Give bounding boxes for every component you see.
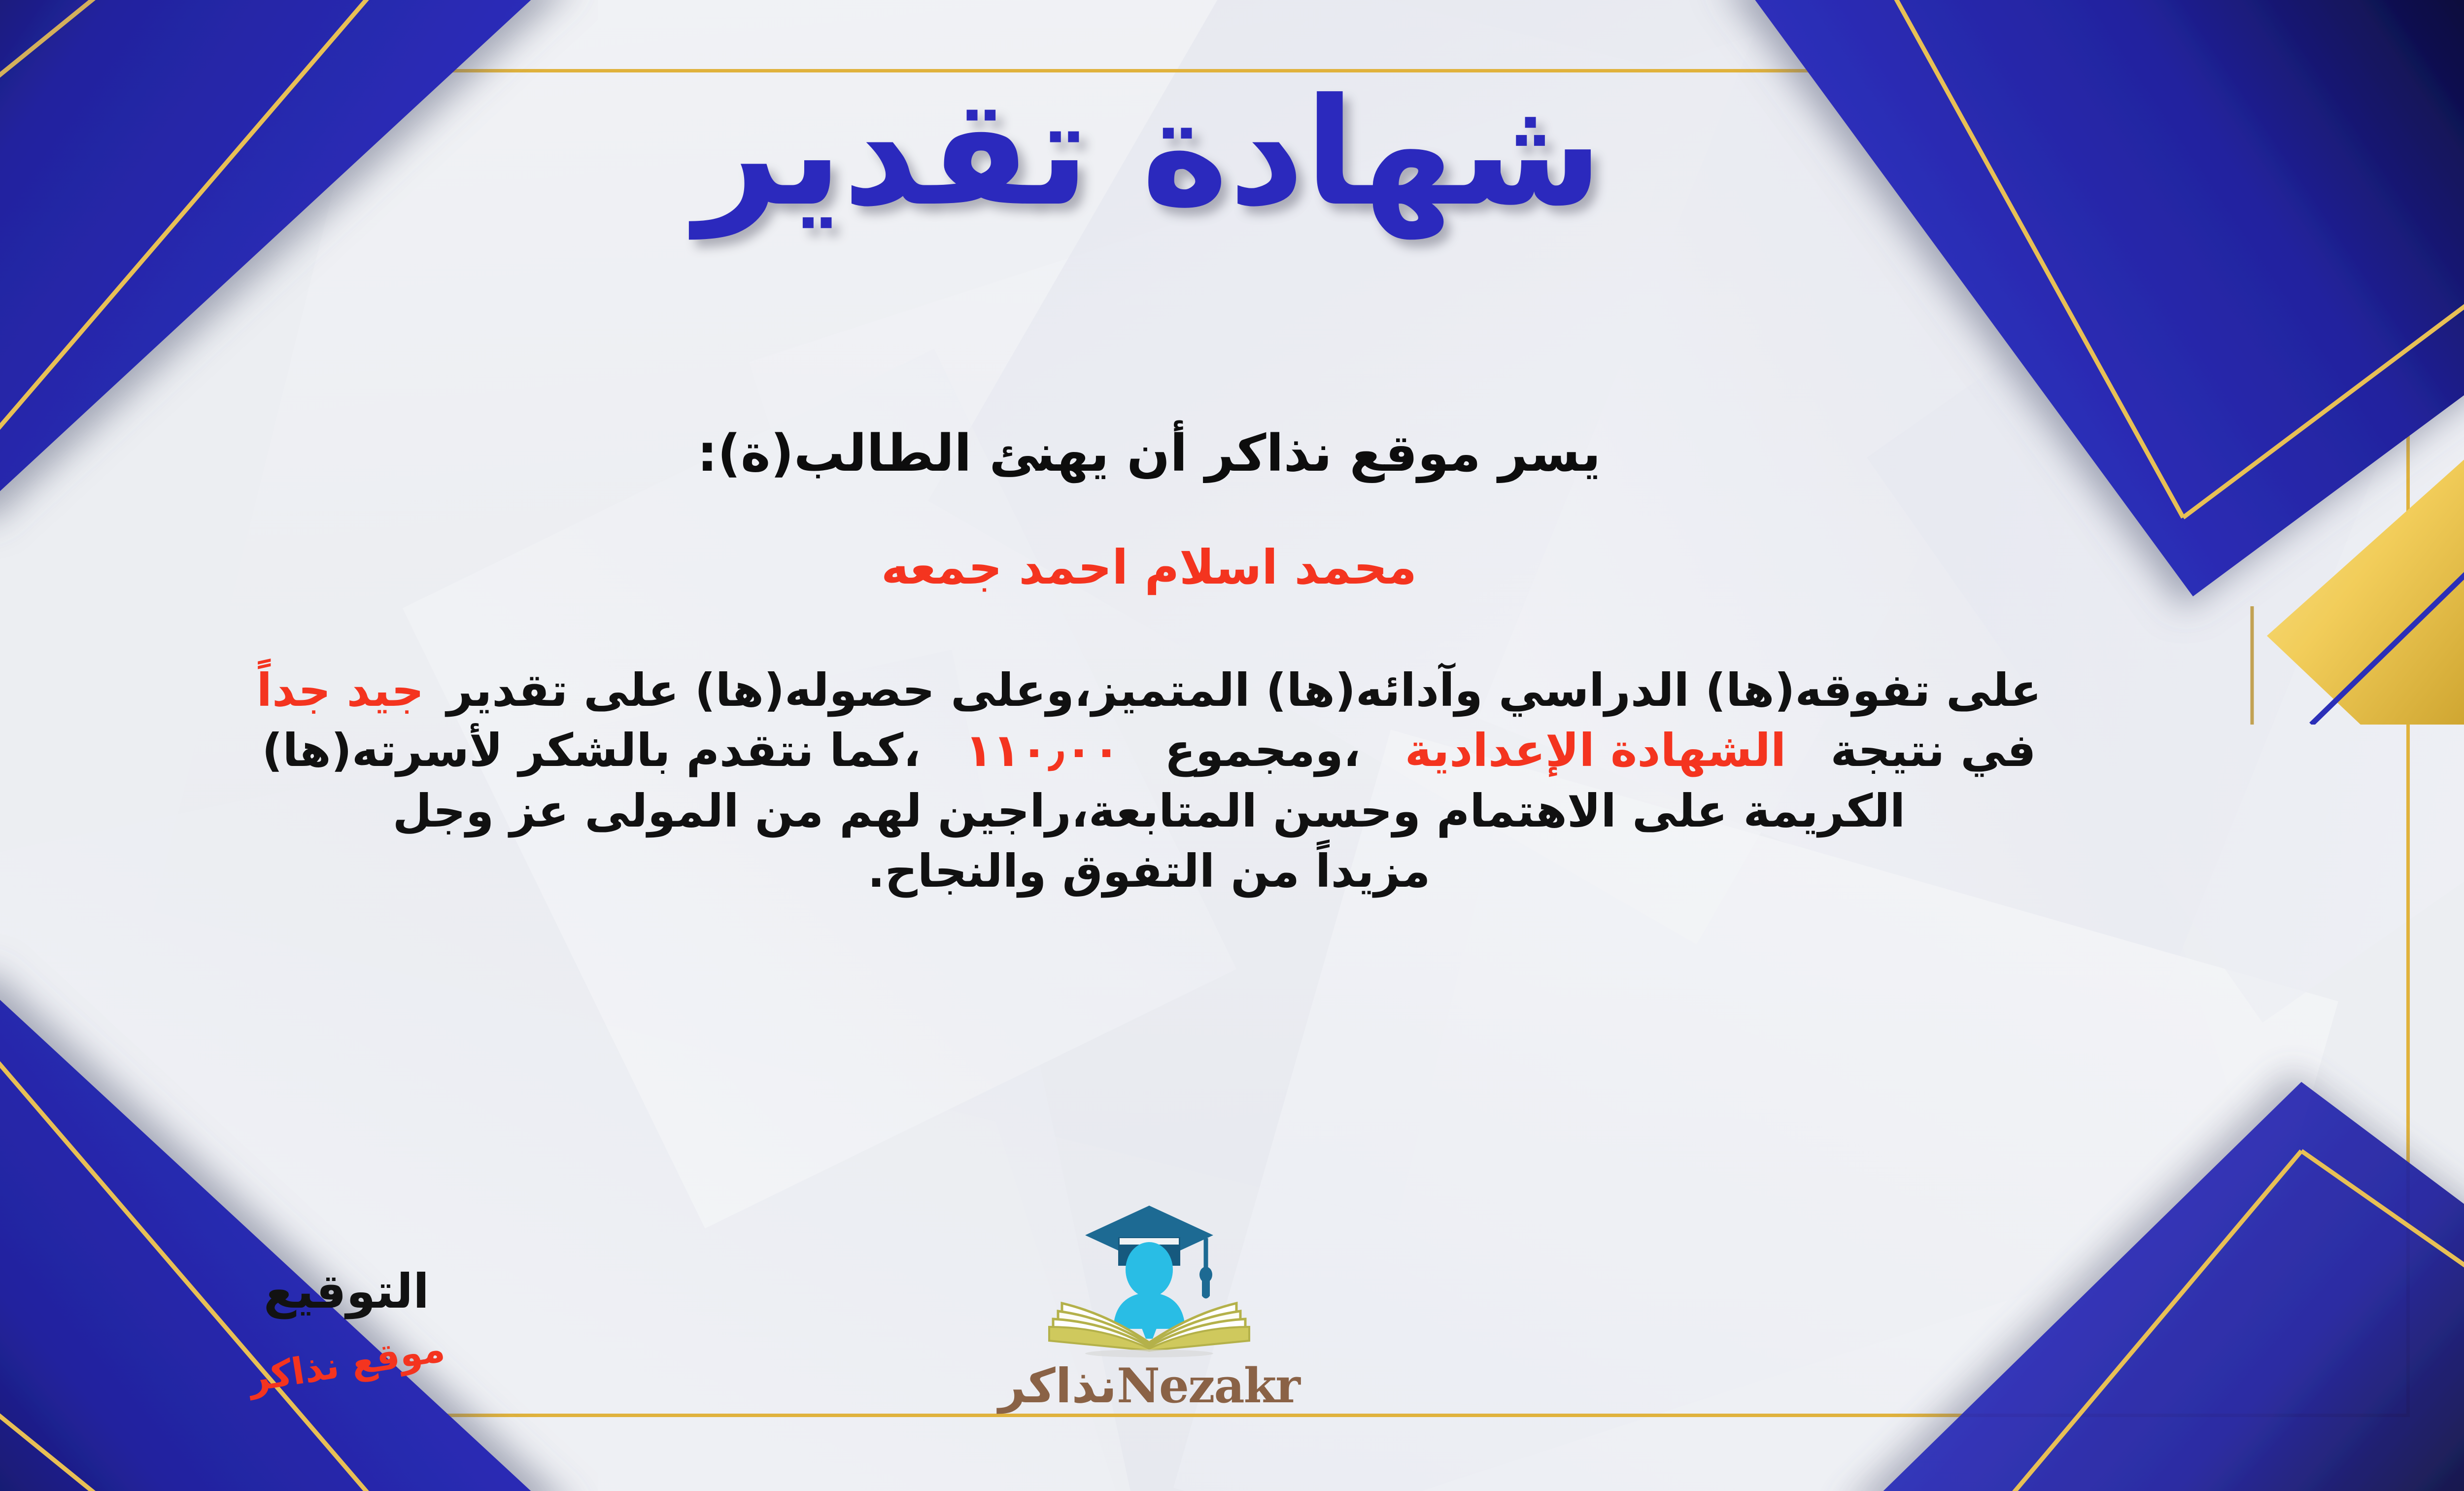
certificate-canvas: شهادة تقدير يسر موقع نذاكر أن يهنئ الطال… [0,0,2464,1491]
certificate-content: شهادة تقدير يسر موقع نذاكر أن يهنئ الطال… [0,0,2464,1491]
certificate-body: على تفوقه(ها) الدراسي وآدائه(ها) المتميز… [0,660,2341,902]
certificate-type-value: الشهادة الإعدادية [1405,724,1786,777]
body-line-1: على تفوقه(ها) الدراسي وآدائه(ها) المتميز… [0,660,2341,721]
certificate-title: شهادة تقدير [0,59,2464,266]
certificate-title-text: شهادة تقدير [695,79,1603,246]
body-line-1-text: على تفوقه(ها) الدراسي وآدائه(ها) المتميز… [446,664,2041,717]
logo-wordmark: Nezakrنذاكر [998,1362,1300,1410]
grade-value: جيد جداً [256,664,424,717]
graduate-book-logo-icon [1043,1195,1255,1359]
body-line-2-suffix: ،كما نتقدم بالشكر لأسرته(ها) [262,724,921,777]
body-line-2-prefix: في نتيجة [1830,724,2036,777]
body-line-2: في نتيجةالشهادة الإعدادية،ومجموع١١٠٫٠٠،ك… [0,721,2341,781]
body-line-4: مزيداً من التفوق والنجاح. [0,841,2341,902]
body-line-3: الكريمة على الاهتمام وحسن المتابعة،راجين… [0,781,2341,841]
student-name: محمد اسلام احمد جمعه [0,540,2464,595]
logo-latin-text: Nezakr [1117,1362,1300,1410]
intro-line: يسر موقع نذاكر أن يهنئ الطالب(ة): [0,424,2464,483]
logo-arabic-text: نذاكر [998,1362,1117,1410]
body-line-2-middle: ،ومجموع [1164,724,1361,777]
total-score-value: ١١٠٫٠٠ [965,724,1120,777]
site-logo: Nezakrنذاكر [0,1195,2464,1410]
